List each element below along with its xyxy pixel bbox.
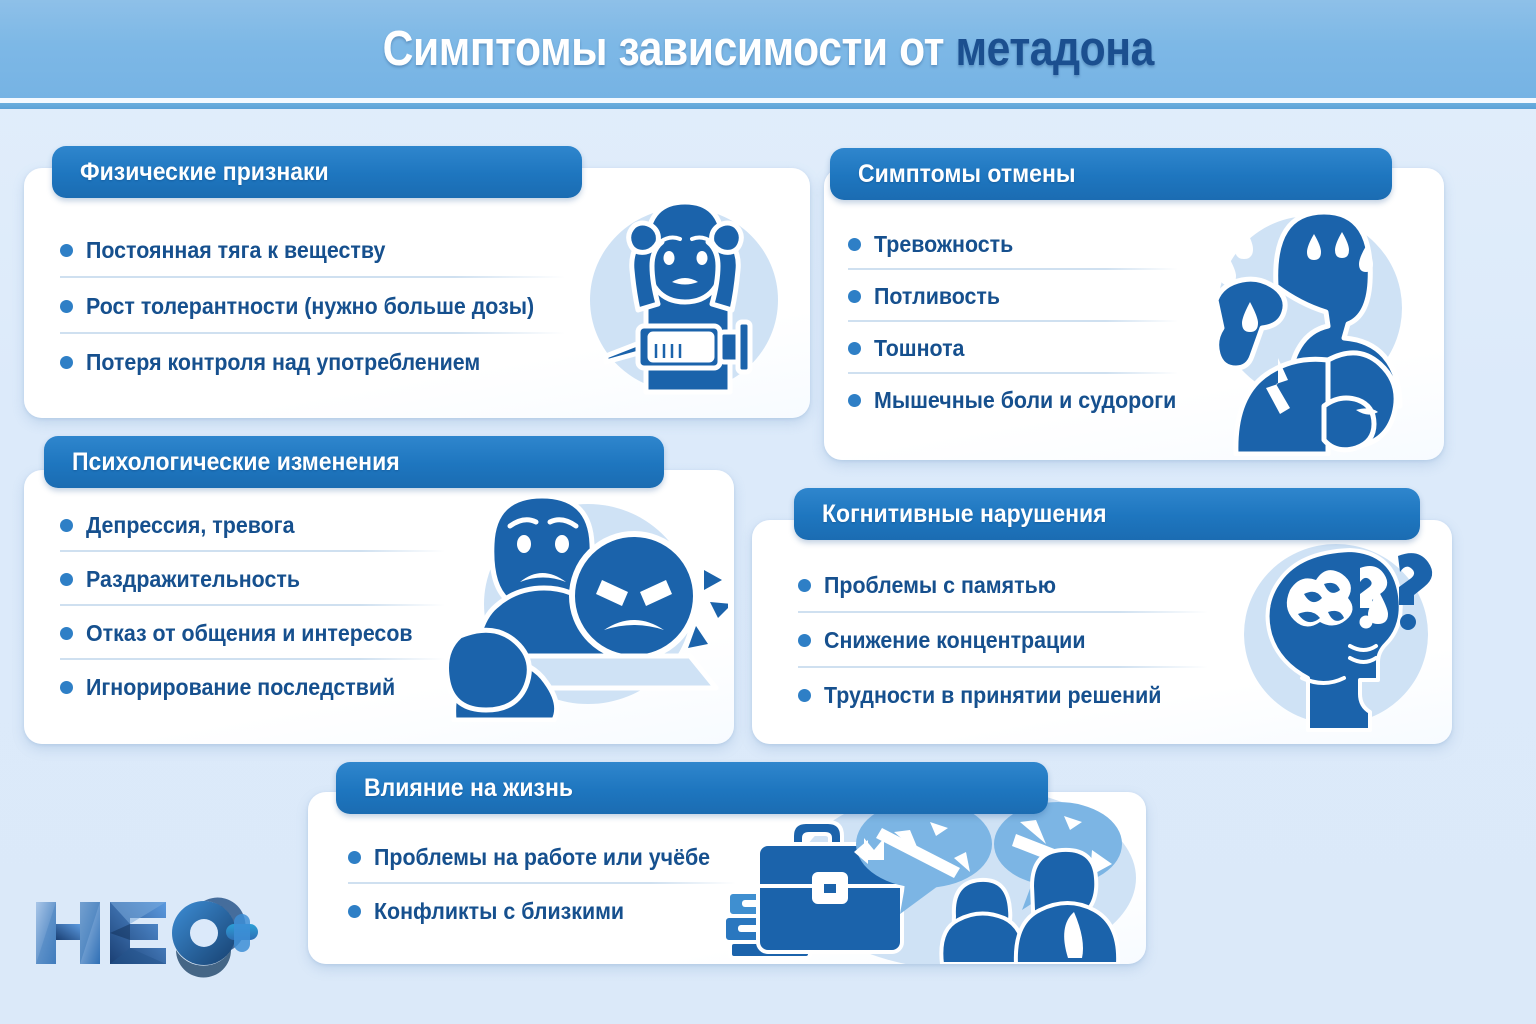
list-item: Потеря контроля над употреблением [60,334,565,390]
list-item: Трудности в принятии решений [798,668,1208,723]
bullet-icon [798,689,811,702]
card-physical-signs-heading: Физические признаки [52,146,582,198]
sweating-person-with-cramps-icon [1192,198,1440,456]
list-item-label: Снижение концентрации [824,627,1085,654]
list-item-label: Отказ от общения и интересов [86,620,413,647]
list-item: Депрессия, тревога [60,498,445,552]
list-item-label: Раздражительность [86,566,300,593]
list-item: Постоянная тяга к веществу [60,222,565,278]
list-item: Тревожность [848,218,1178,270]
list-item-label: Депрессия, тревога [86,512,294,539]
card-withdrawal-symptoms-heading: Симптомы отмены [830,148,1392,200]
list-item-label: Игнорирование последствий [86,674,395,701]
bullet-icon [798,579,811,592]
stressed-person-with-syringe-icon [572,196,788,396]
brand-logo-neo-plus [30,888,260,978]
card-withdrawal-symptoms-list: Тревожность Потливость Тошнота Мышечные … [848,218,1178,426]
card-heading-label: Влияние на жизнь [364,774,573,803]
bullet-icon [60,244,73,257]
logo-letter-e [110,902,166,964]
head-with-brain-question-marks-icon [1238,538,1442,732]
list-item: Проблемы на работе или учёбе [348,830,736,884]
list-item-label: Потеря контроля над употреблением [86,349,480,376]
card-physical-signs-list: Постоянная тяга к веществу Рост толерант… [60,222,565,390]
list-item-label: Проблемы с памятью [824,572,1056,599]
list-item: Конфликты с близкими [348,884,736,938]
bullet-icon [60,356,73,369]
bullet-icon [848,342,861,355]
card-heading-label: Когнитивные нарушения [822,500,1107,529]
list-item: Тошнота [848,322,1178,374]
page-title: Симптомы зависимости от метадона [382,21,1153,77]
bullet-icon [348,905,361,918]
list-item-label: Проблемы на работе или учёбе [374,844,710,871]
list-item-label: Трудности в принятии решений [824,682,1161,709]
sad-person-with-angry-face-icon [438,488,728,722]
list-item: Мышечные боли и судороги [848,374,1178,426]
list-item: Отказ от общения и интересов [60,606,445,660]
list-item-label: Потливость [874,283,1000,310]
card-heading-label: Психологические изменения [72,448,400,477]
bullet-icon [60,627,73,640]
card-heading-label: Физические признаки [80,158,329,187]
bullet-icon [848,238,861,251]
bullet-icon [848,290,861,303]
list-item: Раздражительность [60,552,445,606]
list-item: Снижение концентрации [798,613,1208,668]
infographic-page: Симптомы зависимости от метадона [0,0,1536,1024]
card-psychological-changes-heading: Психологические изменения [44,436,664,488]
bullet-icon [798,634,811,647]
bullet-icon [848,394,861,407]
card-cognitive-impairment-list: Проблемы с памятью Снижение концентрации… [798,558,1208,723]
list-item-label: Тревожность [874,231,1013,258]
logo-letter-n [36,902,100,964]
list-item-label: Тошнота [874,335,964,362]
list-item: Проблемы с памятью [798,558,1208,613]
page-title-main: Симптомы зависимости от [382,22,955,76]
page-header: Симптомы зависимости от метадона [0,0,1536,98]
list-item-label: Рост толерантности (нужно больше дозы) [86,293,534,320]
card-life-impact-heading: Влияние на жизнь [336,762,1048,814]
card-life-impact-list: Проблемы на работе или учёбе Конфликты с… [348,830,736,938]
bullet-icon [60,573,73,586]
bullet-icon [60,519,73,532]
bullet-icon [60,681,73,694]
card-heading-label: Симптомы отмены [858,160,1075,189]
list-item: Потливость [848,270,1178,322]
header-divider-blue [0,103,1536,109]
list-item: Рост толерантности (нужно больше дозы) [60,278,565,334]
bullet-icon [60,300,73,313]
list-item: Игнорирование последствий [60,660,445,714]
list-item-label: Мышечные боли и судороги [874,387,1176,414]
list-item-label: Конфликты с близкими [374,898,624,925]
list-item-label: Постоянная тяга к веществу [86,237,385,264]
card-cognitive-impairment-heading: Когнитивные нарушения [794,488,1420,540]
bullet-icon [348,851,361,864]
card-psychological-changes-list: Депрессия, тревога Раздражительность Отк… [60,498,445,714]
page-title-accent: метадона [955,22,1153,76]
